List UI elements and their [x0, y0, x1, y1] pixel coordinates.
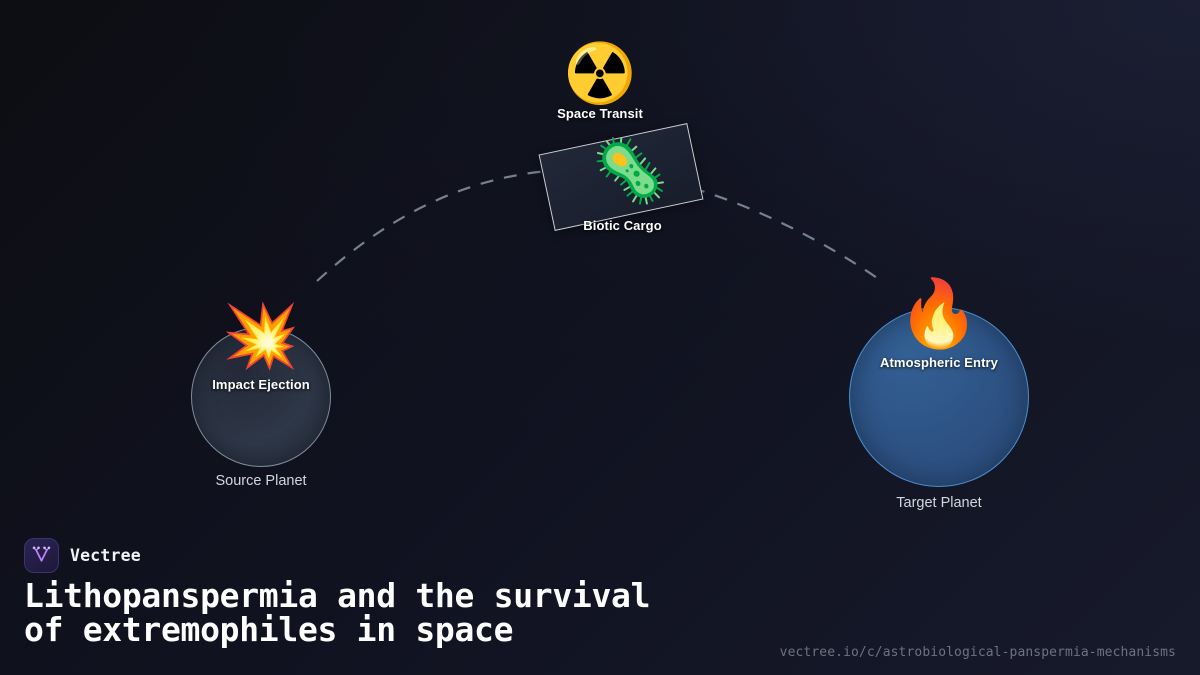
node-target-planet[interactable]: 🔥 Atmospheric Entry Target Planet: [849, 307, 1029, 487]
brand[interactable]: Vectree: [24, 538, 141, 573]
radioactive-emoji: ☢️: [564, 44, 636, 102]
source-planet-label: Impact Ejection: [212, 377, 310, 392]
node-source-planet[interactable]: 💥 Impact Ejection Source Planet: [191, 327, 331, 467]
vectree-v-logo-icon: [24, 538, 59, 573]
explosion-emoji: 💥: [222, 305, 299, 367]
target-planet-label: Atmospheric Entry: [880, 355, 998, 370]
trajectory-segment-right: [692, 188, 880, 280]
fire-emoji: 🔥: [898, 281, 980, 347]
space-transit-label: Space Transit: [557, 106, 643, 121]
trajectory-segment-left: [317, 170, 560, 281]
brand-name: Vectree: [70, 546, 141, 565]
node-space-transit[interactable]: ☢️ Space Transit: [570, 44, 630, 104]
page-url[interactable]: vectree.io/c/astrobiological-panspermia-…: [780, 645, 1176, 660]
diagram-canvas: 💥 Impact Ejection Source Planet ☢️ Space…: [0, 0, 1200, 675]
footer: Vectree Lithopanspermia and the survival…: [0, 530, 1200, 675]
node-biotic-cargo[interactable]: 🦠 Biotic Cargo: [545, 138, 697, 216]
biotic-cargo-label: Biotic Cargo: [583, 218, 661, 233]
microbe-emoji: 🦠: [592, 140, 669, 202]
source-planet-caption: Source Planet: [215, 473, 306, 489]
target-planet-caption: Target Planet: [896, 495, 981, 511]
page-title: Lithopanspermia and the survival of extr…: [24, 579, 754, 646]
